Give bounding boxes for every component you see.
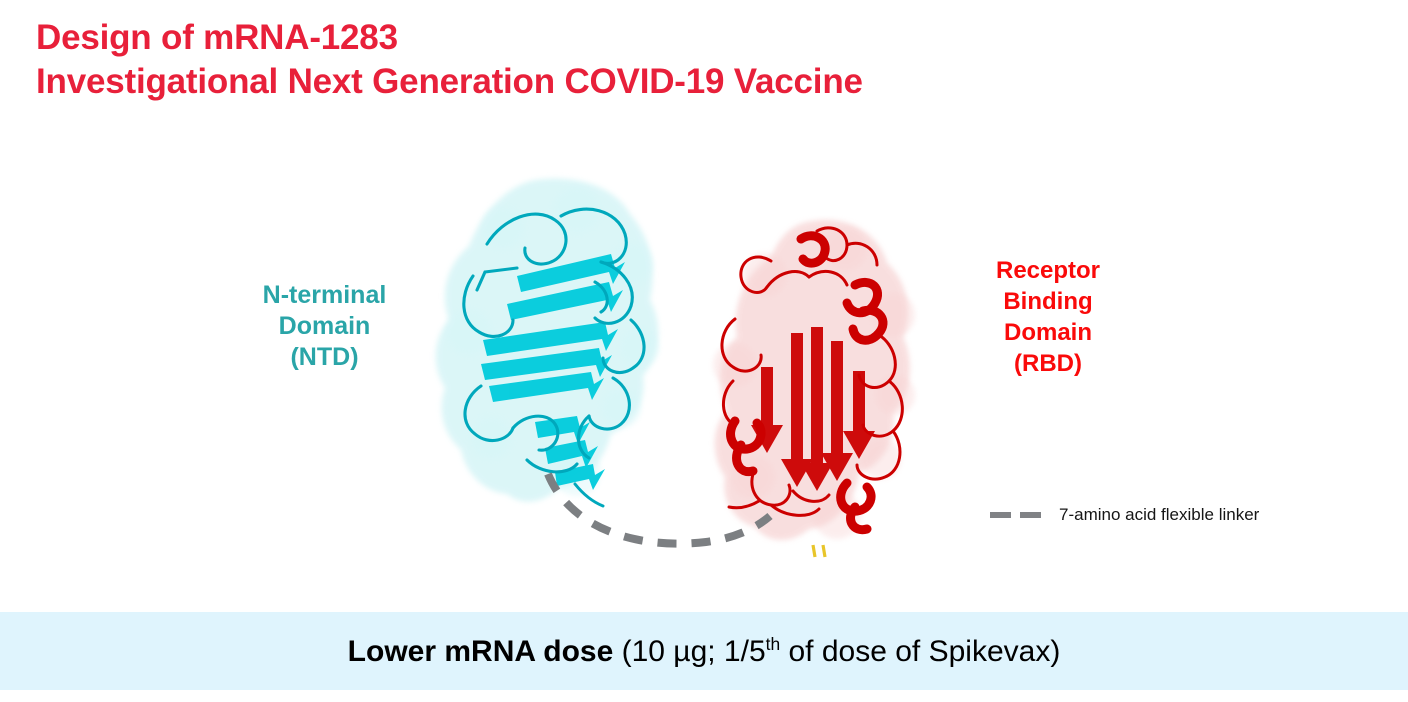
dose-banner-bold: Lower mRNA dose	[348, 635, 614, 668]
dashed-line-icon	[1020, 512, 1041, 518]
flexible-linker-dashed-curve	[540, 430, 810, 560]
ntd-label: N-terminal Domain (NTD)	[222, 280, 427, 373]
dose-banner-superscript: th	[766, 634, 781, 654]
linker-legend: 7-amino acid flexible linker	[990, 505, 1259, 525]
vaccine-design-figure: N-terminal Domain (NTD)	[0, 130, 1408, 600]
dose-banner-suffix: of dose of Spikevax)	[780, 635, 1060, 668]
dose-banner-text: Lower mRNA dose (10 µg; 1/5th of dose of…	[348, 634, 1061, 669]
dashed-line-icon	[990, 512, 1011, 518]
dose-banner: Lower mRNA dose (10 µg; 1/5th of dose of…	[0, 612, 1408, 690]
rbd-label: Receptor Binding Domain (RBD)	[948, 255, 1148, 379]
linker-legend-label: 7-amino acid flexible linker	[1059, 505, 1259, 525]
page-title: Design of mRNA-1283 Investigational Next…	[36, 16, 1286, 104]
dose-banner-prefix: (10 µg; 1/5	[613, 635, 765, 668]
